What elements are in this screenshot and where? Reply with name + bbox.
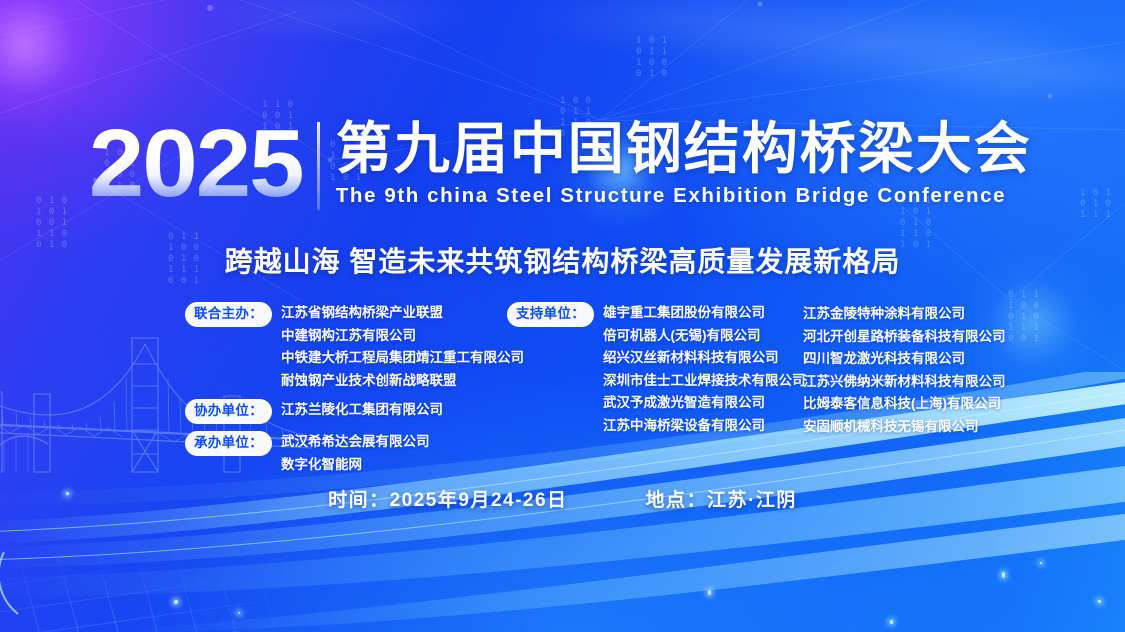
list-item: 安固顺机械科技无锡有限公司 [803,416,1063,439]
org-group-supporter: 支持单位： 雄宇重工集团股份有限公司 倍可机器人(无锡)有限公司 绍兴汉丝新材料… [507,302,803,437]
page-title: 第九届中国钢结构桥梁大会 [336,118,1032,180]
supporter-names-continued: 江苏金陵特种涂料有限公司 河北开创星路桥装备科技有限公司 四川智龙激光科技有限公… [803,303,1063,438]
list-item: 江苏中海桥梁设备有限公司 [603,415,806,438]
list-item: 武汉希希达会展有限公司 [281,431,430,454]
slogan: 跨越山海 智造未来共筑钢结构桥梁高质量发展新格局 [0,240,1125,280]
conference-banner: 0 1 0 1 0 1 0 0 1 1 1 0 0 1 0 1 0 1 0 1 … [0,0,1125,632]
event-details: 时间：2025年9月24-26日 地点：江苏·江阴 [0,485,1125,512]
list-item: 江苏省钢结构桥梁产业联盟 [281,302,524,325]
organizers-section: 联合主办： 江苏省钢结构桥梁产业联盟 中建钢构江苏有限公司 中铁建大桥工程局集团… [185,302,1065,483]
list-item: 深圳市佳士工业焊接技术有限公司 [603,370,806,393]
banner-content: 2025 第九届中国钢结构桥梁大会 The 9th china Steel St… [0,0,1125,632]
list-item: 比姆泰客信息科技(上海)有限公司 [803,393,1063,416]
org-group-co-organizer: 协办单位： 江苏兰陵化工集团有限公司 [185,399,507,424]
organizers-right-column: 江苏金陵特种涂料有限公司 河北开创星路桥装备科技有限公司 四川智龙激光科技有限公… [803,302,1063,438]
label-undertaker: 承办单位： [185,431,272,456]
org-group-undertaker: 承办单位： 武汉希希达会展有限公司 数字化智能网 [185,431,507,476]
supporter-names: 雄宇重工集团股份有限公司 倍可机器人(无锡)有限公司 绍兴汉丝新材料科技有限公司… [603,302,806,437]
list-item: 武汉予成激光智造有限公司 [603,392,806,415]
list-item: 数字化智能网 [281,454,430,477]
page-subtitle-english: The 9th china Steel Structure Exhibition… [336,184,1032,208]
list-item: 河北开创星路桥装备科技有限公司 [803,326,1063,349]
list-item: 四川智龙激光科技有限公司 [803,348,1063,371]
organizers-middle-column: 支持单位： 雄宇重工集团股份有限公司 倍可机器人(无锡)有限公司 绍兴汉丝新材料… [507,302,803,437]
title-row: 2025 第九届中国钢结构桥梁大会 The 9th china Steel St… [0,118,1125,210]
list-item: 倍可机器人(无锡)有限公司 [603,325,806,348]
org-group-joint-host: 联合主办： 江苏省钢结构桥梁产业联盟 中建钢构江苏有限公司 中铁建大桥工程局集团… [185,302,507,392]
label-joint-host: 联合主办： [185,302,272,327]
list-item: 中建钢构江苏有限公司 [281,325,524,348]
list-item: 耐蚀钢产业技术创新战略联盟 [281,370,524,393]
joint-host-names: 江苏省钢结构桥梁产业联盟 中建钢构江苏有限公司 中铁建大桥工程局集团靖江重工有限… [281,302,524,392]
event-place: 地点：江苏·江阴 [646,485,797,512]
list-item: 江苏兴佛纳米新材料科技有限公司 [803,371,1063,394]
co-organizer-names: 江苏兰陵化工集团有限公司 [281,399,443,422]
list-item: 绍兴汉丝新材料科技有限公司 [603,347,806,370]
organizers-left-column: 联合主办： 江苏省钢结构桥梁产业联盟 中建钢构江苏有限公司 中铁建大桥工程局集团… [185,302,507,483]
list-item: 江苏兰陵化工集团有限公司 [281,399,443,422]
label-co-organizer: 协办单位： [185,399,272,424]
event-time: 时间：2025年9月24-26日 [328,485,567,512]
title-text-block: 第九届中国钢结构桥梁大会 The 9th china Steel Structu… [336,118,1032,208]
year-2025: 2025 [89,118,307,210]
undertaker-names: 武汉希希达会展有限公司 数字化智能网 [281,431,430,476]
label-supporter: 支持单位： [507,302,594,327]
title-divider [317,122,320,210]
list-item: 江苏金陵特种涂料有限公司 [803,303,1063,326]
list-item: 雄宇重工集团股份有限公司 [603,302,806,325]
list-item: 中铁建大桥工程局集团靖江重工有限公司 [281,347,524,370]
